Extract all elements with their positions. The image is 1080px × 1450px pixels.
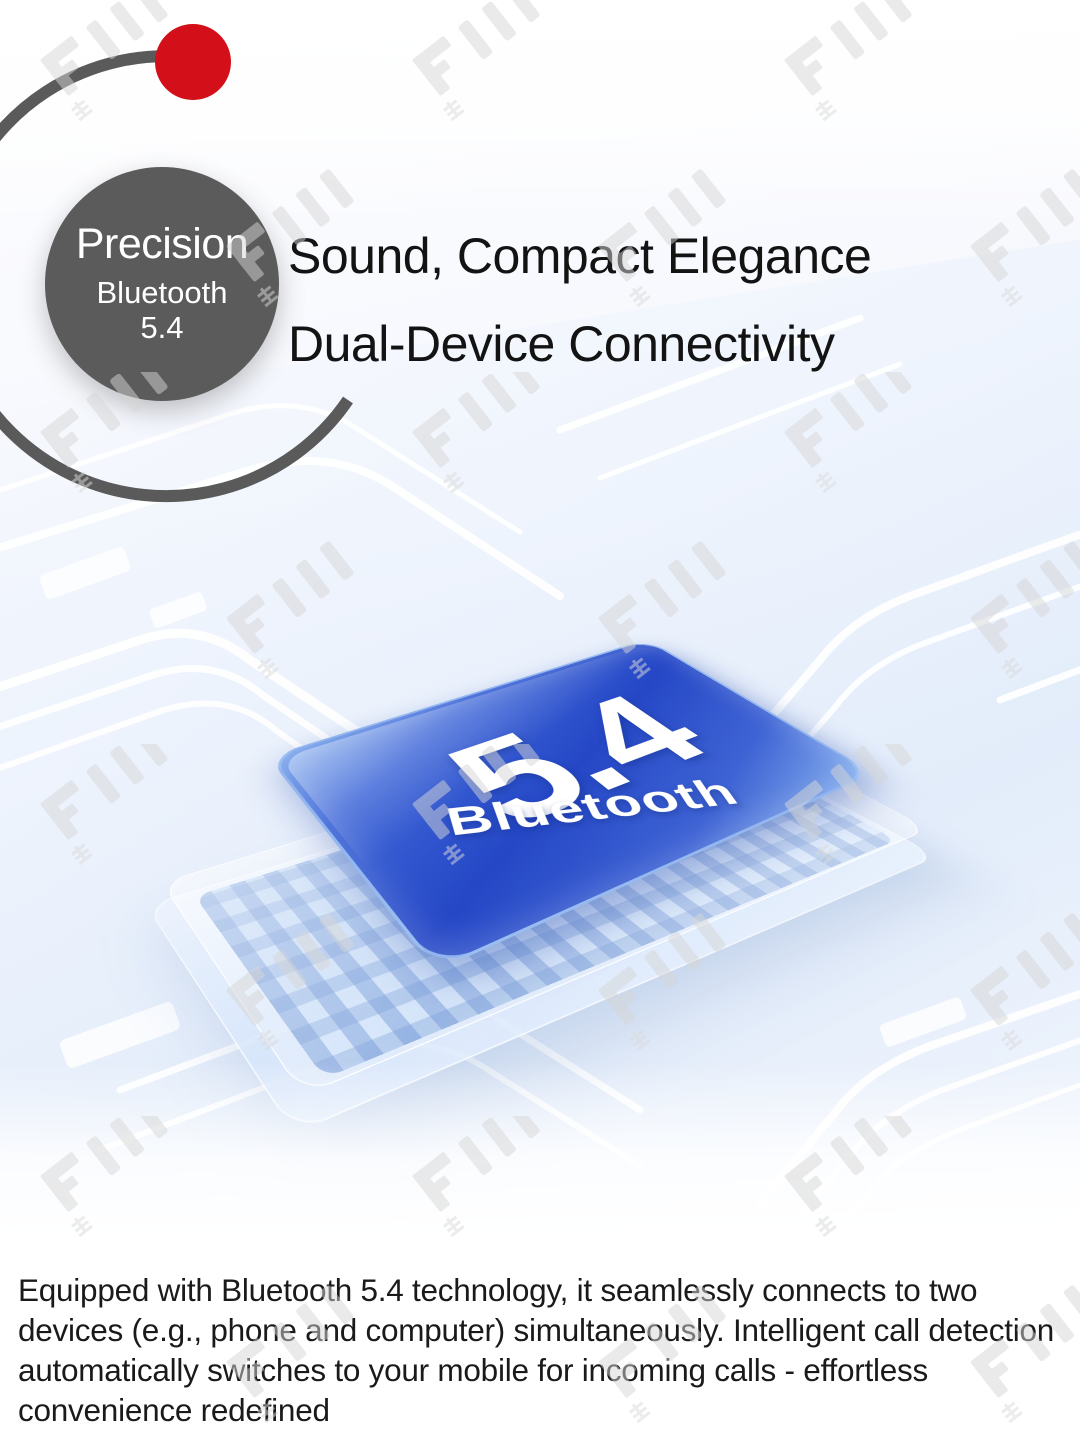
product-feature-panel: 5.4 Bluetooth Precision Bluetooth 5.4 So… [0,0,1080,1450]
headline-line-1: Sound, Compact Elegance [288,228,871,284]
badge-subtitle: Bluetooth [97,275,228,312]
description-paragraph: Equipped with Bluetooth 5.4 technology, … [18,1270,1068,1430]
page-title: Sound, Compact Elegance Dual-Device Conn… [288,212,1008,388]
badge-circle: Precision Bluetooth 5.4 [45,167,279,401]
headline-line-2: Dual-Device Connectivity [288,300,1008,388]
badge-version: 5.4 [140,311,183,346]
badge-title: Precision [76,222,248,267]
status-dot-icon [155,24,231,100]
hero-bottom-fade [0,1060,1080,1250]
